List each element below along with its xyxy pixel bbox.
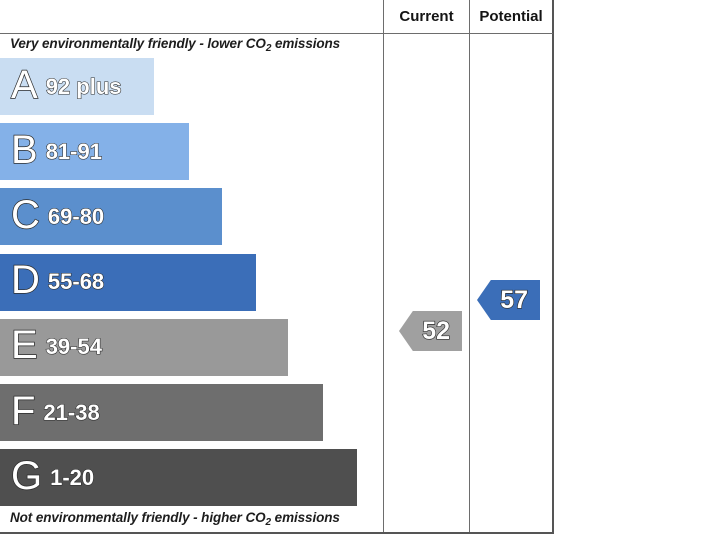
caption-top: Very environmentally friendly - lower CO… bbox=[10, 36, 340, 51]
band-range-d: 55-68 bbox=[48, 271, 104, 293]
rating-band-c: C69-80 bbox=[0, 188, 222, 245]
caption-bottom-subscript: 2 bbox=[266, 517, 271, 528]
band-letter-c: C bbox=[11, 195, 40, 235]
rating-band-f: F21-38 bbox=[0, 384, 323, 441]
rating-band-g: G1-20 bbox=[0, 449, 357, 506]
caption-top-subscript: 2 bbox=[266, 43, 271, 54]
band-range-c: 69-80 bbox=[48, 206, 104, 228]
band-range-b: 81-91 bbox=[46, 141, 102, 163]
band-range-g: 1-20 bbox=[50, 467, 94, 489]
band-letter-e: E bbox=[11, 325, 38, 365]
band-letter-b: B bbox=[11, 130, 38, 170]
header-divider bbox=[0, 33, 553, 34]
rating-band-a: A92 plus bbox=[0, 58, 154, 115]
rating-band-b: B81-91 bbox=[0, 123, 189, 180]
column-header-current: Current bbox=[384, 5, 469, 29]
potential-rating-value: 57 bbox=[500, 288, 528, 313]
band-range-f: 21-38 bbox=[43, 402, 99, 424]
column-divider-left bbox=[383, 0, 384, 534]
band-range-a: 92 plus bbox=[46, 76, 122, 98]
chart-bottom-border bbox=[0, 532, 553, 534]
rating-band-e: E39-54 bbox=[0, 319, 288, 376]
rating-band-d: D55-68 bbox=[0, 254, 256, 311]
caption-bottom-text: Not environmentally friendly - higher CO bbox=[10, 510, 266, 525]
band-letter-d: D bbox=[11, 260, 40, 300]
potential-rating-marker: 57 bbox=[477, 280, 540, 320]
band-letter-a: A bbox=[11, 65, 38, 105]
band-letter-f: F bbox=[11, 391, 35, 431]
column-divider-mid bbox=[469, 0, 470, 534]
caption-bottom-tail: emissions bbox=[271, 510, 340, 525]
co2-emissions-rating-chart: Current Potential Very environmentally f… bbox=[0, 0, 554, 534]
caption-bottom: Not environmentally friendly - higher CO… bbox=[10, 510, 340, 525]
current-rating-marker: 52 bbox=[399, 311, 462, 351]
current-rating-value: 52 bbox=[422, 319, 450, 344]
column-header-potential: Potential bbox=[470, 5, 552, 29]
caption-top-text: Very environmentally friendly - lower CO bbox=[10, 36, 266, 51]
caption-top-tail: emissions bbox=[271, 36, 340, 51]
chart-right-border bbox=[552, 0, 554, 534]
band-range-e: 39-54 bbox=[46, 336, 102, 358]
band-letter-g: G bbox=[11, 456, 42, 496]
